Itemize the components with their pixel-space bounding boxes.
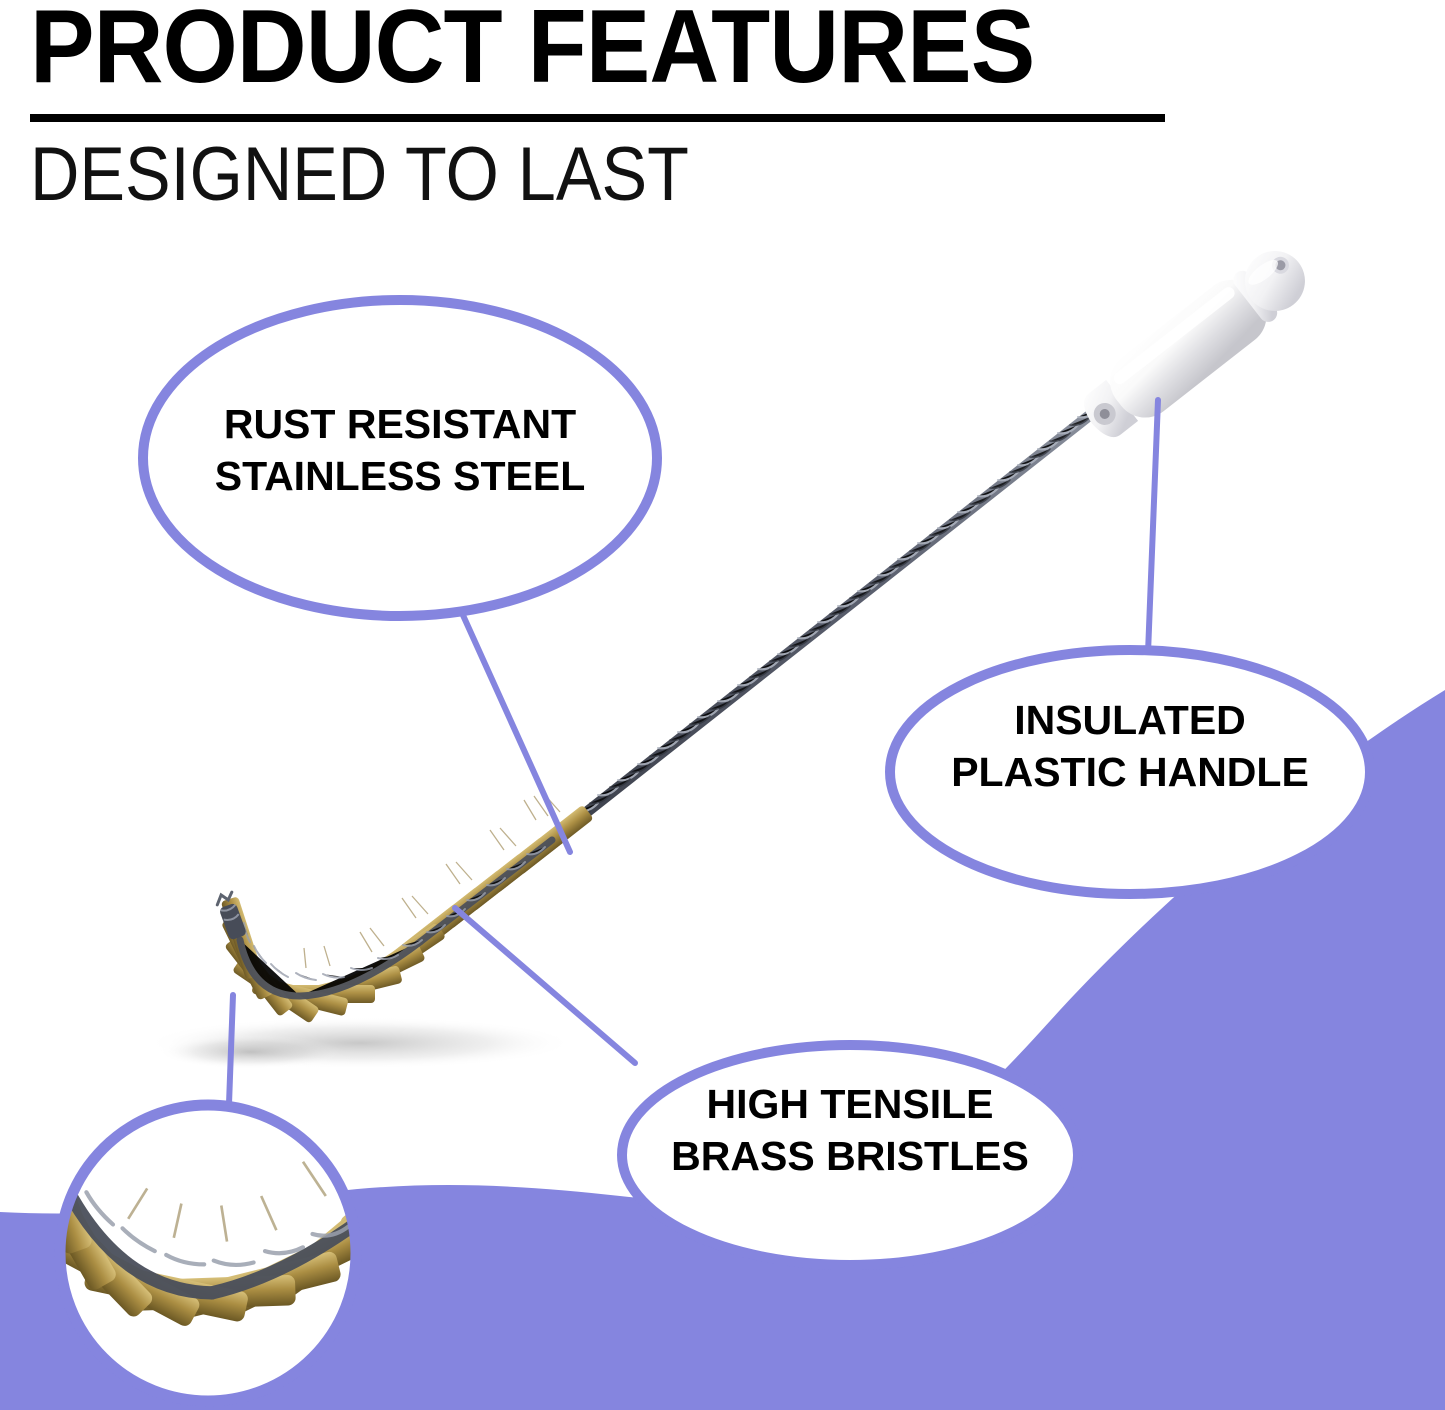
infographic-canvas: PRODUCT FEATURES DESIGNED TO LAST	[0, 0, 1445, 1410]
callout-ellipse-brass-bristles	[622, 1045, 1078, 1265]
callout-ellipse-rust-resistant	[143, 300, 657, 616]
callout-ellipse-insulated-handle	[890, 650, 1370, 894]
callout-shapes	[0, 0, 1445, 1410]
magnifier-bristle-closeup	[11, 1059, 474, 1401]
